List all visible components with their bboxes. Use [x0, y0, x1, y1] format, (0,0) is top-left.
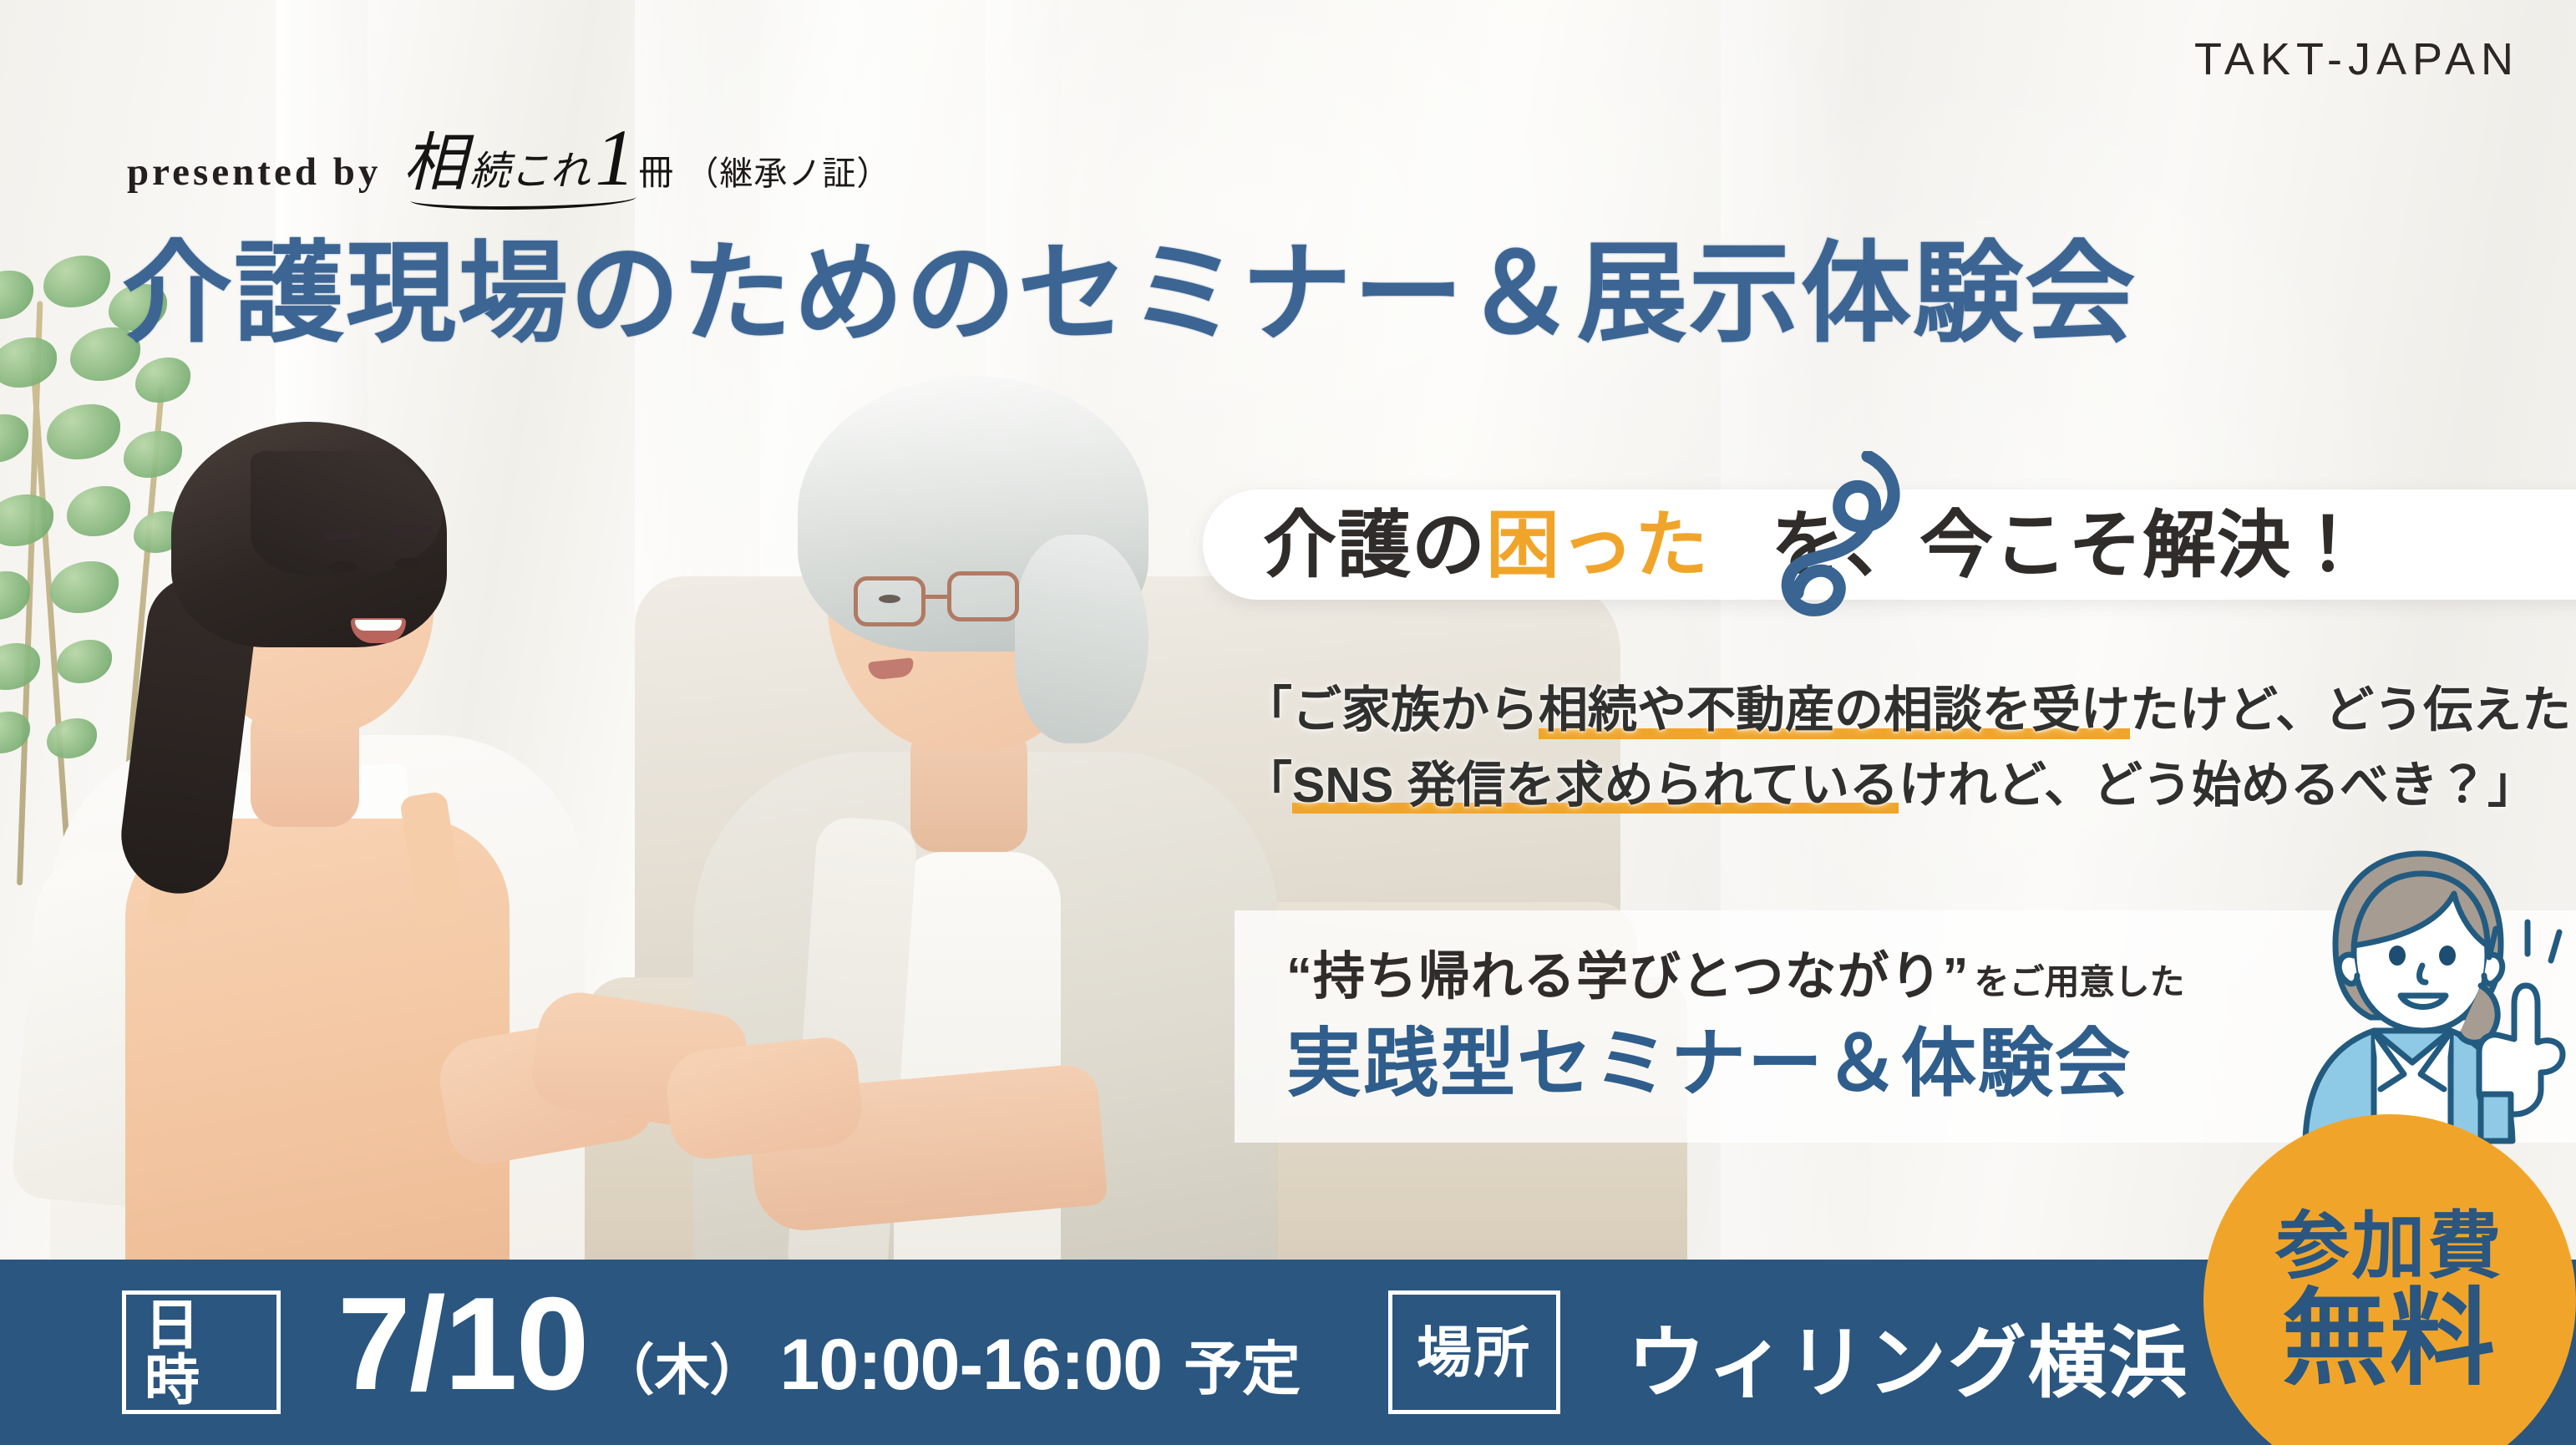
- blue-swirl-decoration: [1742, 451, 1909, 643]
- badge-label: 参加費: [2275, 1209, 2503, 1283]
- badge-value: 無料: [2282, 1286, 2497, 1392]
- eyeglasses: [854, 576, 925, 626]
- seminar-type-title: 実践型セミナー＆体験会: [1286, 1002, 2132, 1111]
- eyeglasses-bridge: [924, 595, 949, 599]
- quote-highlight: SNS 発信を求められている: [1292, 758, 1899, 816]
- eyeglasses: [947, 571, 1019, 621]
- poster-root: presented by 相 続これ 1 冊 （継承ノ証） TAKT-JAPAN…: [0, 0, 2576, 1445]
- place-tag-label: 場所: [1417, 1325, 1532, 1380]
- caregiver-eye: [394, 558, 423, 569]
- datetime-tag: 日時: [122, 1290, 281, 1414]
- seminar-promise: “持ち帰れる学びとつながり”: [1286, 948, 1970, 1006]
- event-venue: ウィリング横浜: [1627, 1300, 2188, 1413]
- quote-line: 「ご家族から相続や不動産の相談を受けたけど、どう伝えたら？」: [1243, 673, 2576, 748]
- event-time-note: 予定: [1184, 1322, 1301, 1407]
- quote-open: 「: [1243, 758, 1292, 813]
- seminar-promise-tail: をご用意した: [1975, 962, 2185, 1001]
- brand-kanji-1: 相: [403, 131, 466, 195]
- quote-open: 「ご家族から: [1243, 682, 1539, 738]
- brand-subtitle: （継承ノ証）: [685, 146, 890, 195]
- quote-close: けれど、どう始めるべき？」: [1899, 758, 2537, 813]
- tagline-prefix: 介護の: [1263, 504, 1486, 586]
- brand-logo: 相 続これ 1 冊 （継承ノ証）: [403, 125, 890, 196]
- joined-hands: [663, 1034, 865, 1162]
- company-logo: TAKT-JAPAN: [2194, 33, 2519, 85]
- place-tag: 場所: [1388, 1290, 1560, 1414]
- brand-numeral: 1: [595, 125, 635, 191]
- datetime-tag-label: 日時: [145, 1297, 258, 1407]
- page-title: 介護現場のためのセミナー＆展示体験会: [122, 236, 2137, 352]
- pain-point-quotes: 「ご家族から相続や不動産の相談を受けたけど、どう伝えたら？」 「SNS 発信を求…: [1243, 673, 2576, 823]
- brand-kanji-3: 冊: [638, 144, 673, 195]
- quote-close: たけど、どう伝えたら？」: [2130, 682, 2576, 738]
- presenter-mascot-icon: [2287, 839, 2576, 1148]
- event-time-range: 10:00-16:00: [780, 1324, 1163, 1407]
- quote-highlight: 相続や不動産の相談を受け: [1539, 682, 2130, 741]
- presented-by-label: presented by: [127, 150, 381, 195]
- event-day-of-week: （木）: [600, 1326, 765, 1406]
- seminar-type-lead: “持ち帰れる学びとつながり”をご用意した: [1286, 934, 2185, 1009]
- elderly-woman-hair: [1015, 535, 1149, 743]
- event-datetime: 7/10 （木） 10:00-16:00 予定: [337, 1278, 1301, 1410]
- presented-by-lockup: presented by 相 続これ 1 冊 （継承ノ証）: [127, 125, 890, 196]
- tagline-highlight: 困った: [1486, 504, 1709, 586]
- event-date: 7/10: [337, 1278, 588, 1410]
- caregiver-eye: [329, 561, 357, 572]
- quote-line: 「SNS 発信を求められているけれど、どう始めるべき？」: [1243, 748, 2576, 824]
